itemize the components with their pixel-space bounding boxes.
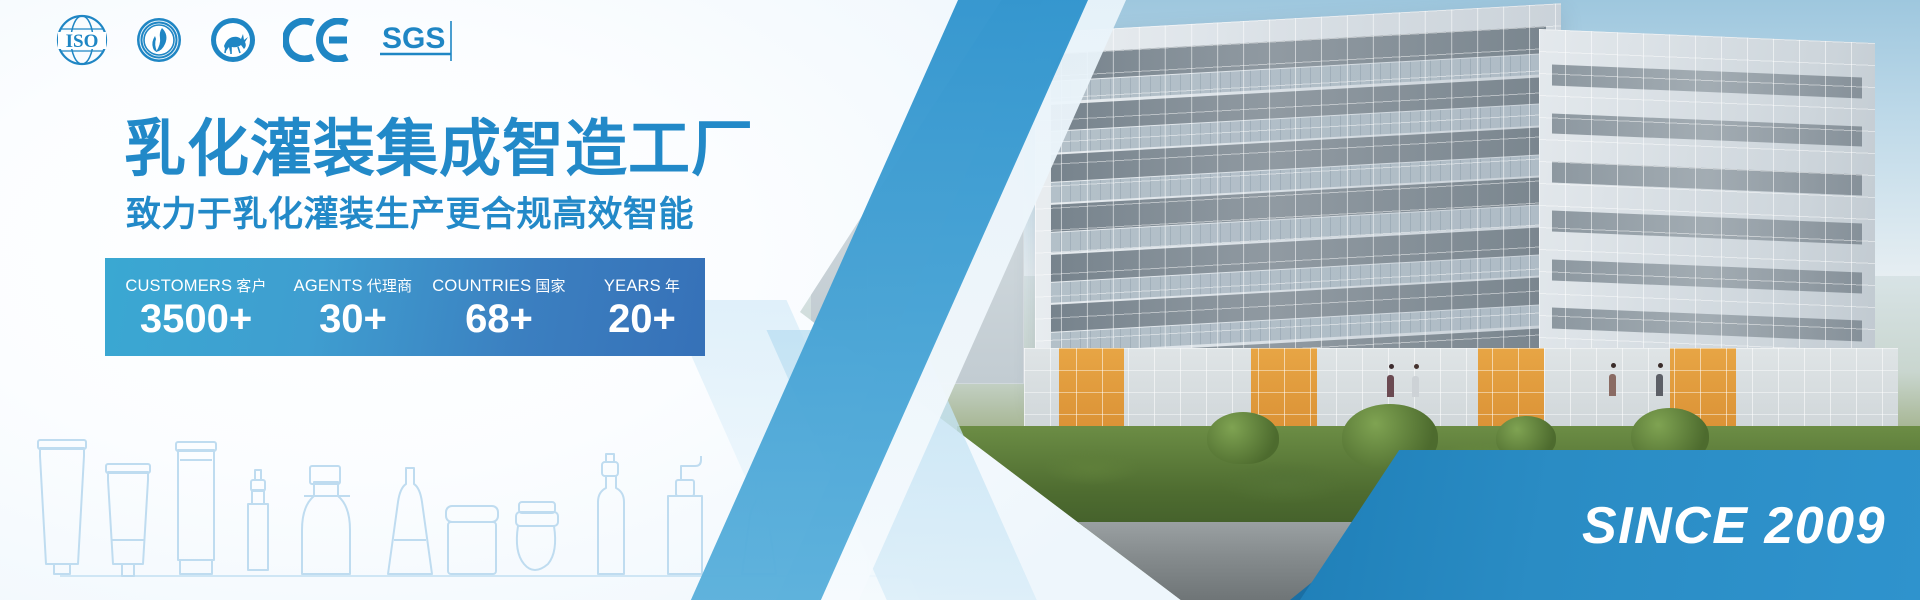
svg-text:ISO: ISO: [66, 31, 99, 52]
stat-agents: AGENTS代理商 30+: [287, 258, 419, 356]
sgs-certification-logo: SGS: [379, 17, 461, 68]
stat-label-cn: 国家: [535, 277, 565, 295]
stat-label-cn: 代理商: [367, 277, 413, 295]
landscaping-hedge: [957, 426, 1920, 528]
stat-years: YEARS年 20+: [579, 258, 705, 356]
deer-mark-certification-logo: [209, 16, 257, 69]
certification-logo-row: ISO: [55, 14, 461, 71]
stat-value: 20+: [608, 299, 676, 339]
stat-label: YEARS年: [604, 275, 680, 296]
stat-label-en: AGENTS: [294, 277, 363, 295]
banner-subheadline: 致力于乳化灌装生产更合规高效智能: [126, 198, 694, 233]
access-road: [979, 522, 1920, 600]
svg-text:SGS: SGS: [382, 22, 445, 55]
stat-label-en: CUSTOMERS: [125, 277, 232, 295]
ce-certification-logo: [283, 18, 353, 67]
pedestrian: [1389, 364, 1394, 369]
stat-label: AGENTS代理商: [294, 275, 413, 296]
stat-value: 68+: [465, 299, 533, 339]
pedestrian: [1611, 363, 1616, 368]
pedestrian: [1412, 376, 1419, 397]
company-stats-bar: CUSTOMERS客户 3500+ AGENTS代理商 30+ COUNTRIE…: [105, 258, 705, 356]
stat-label-en: COUNTRIES: [432, 277, 531, 295]
pedestrian: [1387, 375, 1394, 397]
stat-label-cn: 年: [665, 277, 680, 295]
side-wing-building: [1539, 29, 1875, 391]
banner-headline: 乳化灌装集成智造工厂: [124, 118, 754, 180]
stat-value: 3500+: [140, 299, 252, 339]
pedestrian: [1609, 374, 1616, 396]
stat-value: 30+: [319, 299, 387, 339]
stat-label: COUNTRIES国家: [432, 275, 565, 296]
stat-label-en: YEARS: [604, 277, 661, 295]
pedestrian: [1658, 363, 1663, 368]
main-office-tower: [1035, 3, 1561, 404]
gmp-certification-logo: [135, 16, 183, 69]
stat-label: CUSTOMERS客户: [125, 275, 266, 296]
pedestrian: [1414, 364, 1419, 369]
stat-countries: COUNTRIES国家 68+: [419, 258, 579, 356]
stat-customers: CUSTOMERS客户 3500+: [105, 258, 287, 356]
iso-certification-logo: ISO: [55, 14, 109, 71]
hero-left-content: ISO: [0, 0, 1000, 600]
stat-label-cn: 客户: [236, 277, 266, 295]
pedestrian: [1656, 374, 1663, 396]
homepage-hero-banner: ISO: [0, 0, 1920, 600]
